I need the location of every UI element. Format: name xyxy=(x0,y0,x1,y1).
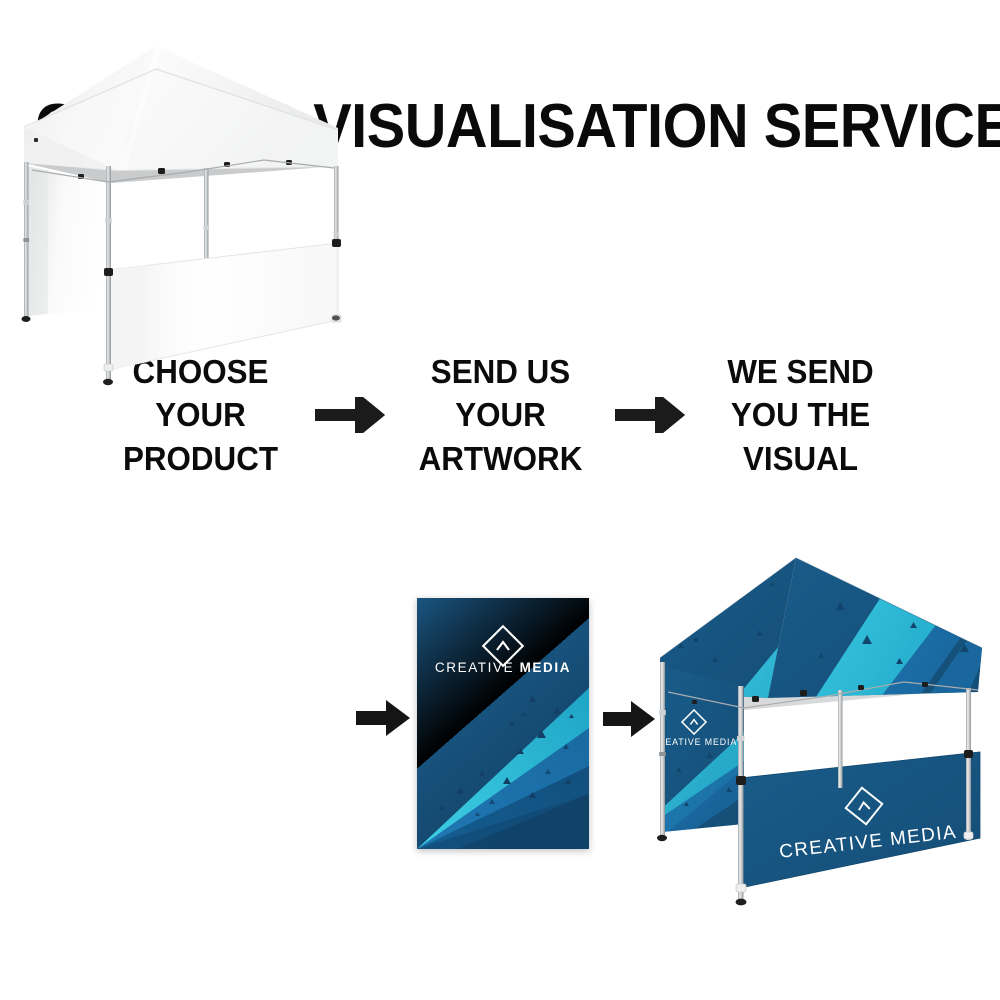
step-line: YOU THE xyxy=(698,393,902,437)
gazebo-leg-front xyxy=(738,686,744,902)
banner-clamp-icon xyxy=(736,776,746,785)
brand-name-part2: MEDIA xyxy=(520,660,572,675)
banner-clamp-icon xyxy=(104,268,113,276)
step-send-artwork: SEND US YOUR ARTWORK xyxy=(398,350,602,481)
poster-page: GRAPHIC VISUALISATION SERVICE CHOOSE YOU… xyxy=(0,0,1000,1000)
arrow-right-icon xyxy=(615,392,685,438)
artwork-poster: CREATIVE MEDIA xyxy=(417,598,589,849)
arrow-right-icon xyxy=(352,692,416,744)
gazebo-leg-back xyxy=(838,690,843,788)
banner-clamp-icon xyxy=(964,750,973,758)
step-line: ARTWORK xyxy=(398,437,602,481)
gazebo-leg-right xyxy=(966,688,971,840)
step-line: SEND US xyxy=(398,350,602,394)
blank-gazebo-image xyxy=(8,20,368,410)
product-arrow-1 xyxy=(352,692,416,744)
brand-name-part1: CREATIVE xyxy=(435,660,514,675)
white-gazebo-illustration xyxy=(8,20,368,410)
gazebo-leg-left xyxy=(660,662,665,836)
artwork-poster-artwork xyxy=(417,598,589,849)
gazebo-half-wall-banner xyxy=(728,740,998,900)
step-line: VISUAL xyxy=(698,437,902,481)
step-receive-visual: WE SEND YOU THE VISUAL xyxy=(698,350,902,481)
banner-clamp-icon xyxy=(332,239,341,247)
step-arrow-2 xyxy=(608,392,693,438)
step-line: YOUR xyxy=(398,393,602,437)
poster-brand-text: CREATIVE MEDIA xyxy=(417,660,589,675)
step-line: PRODUCT xyxy=(98,437,302,481)
branded-gazebo-illustration: CREATIVE MEDIA CREATIVE MEDIA xyxy=(648,540,998,940)
step-line: WE SEND xyxy=(698,350,902,394)
branded-gazebo-image: CREATIVE MEDIA CREATIVE MEDIA xyxy=(648,540,998,940)
